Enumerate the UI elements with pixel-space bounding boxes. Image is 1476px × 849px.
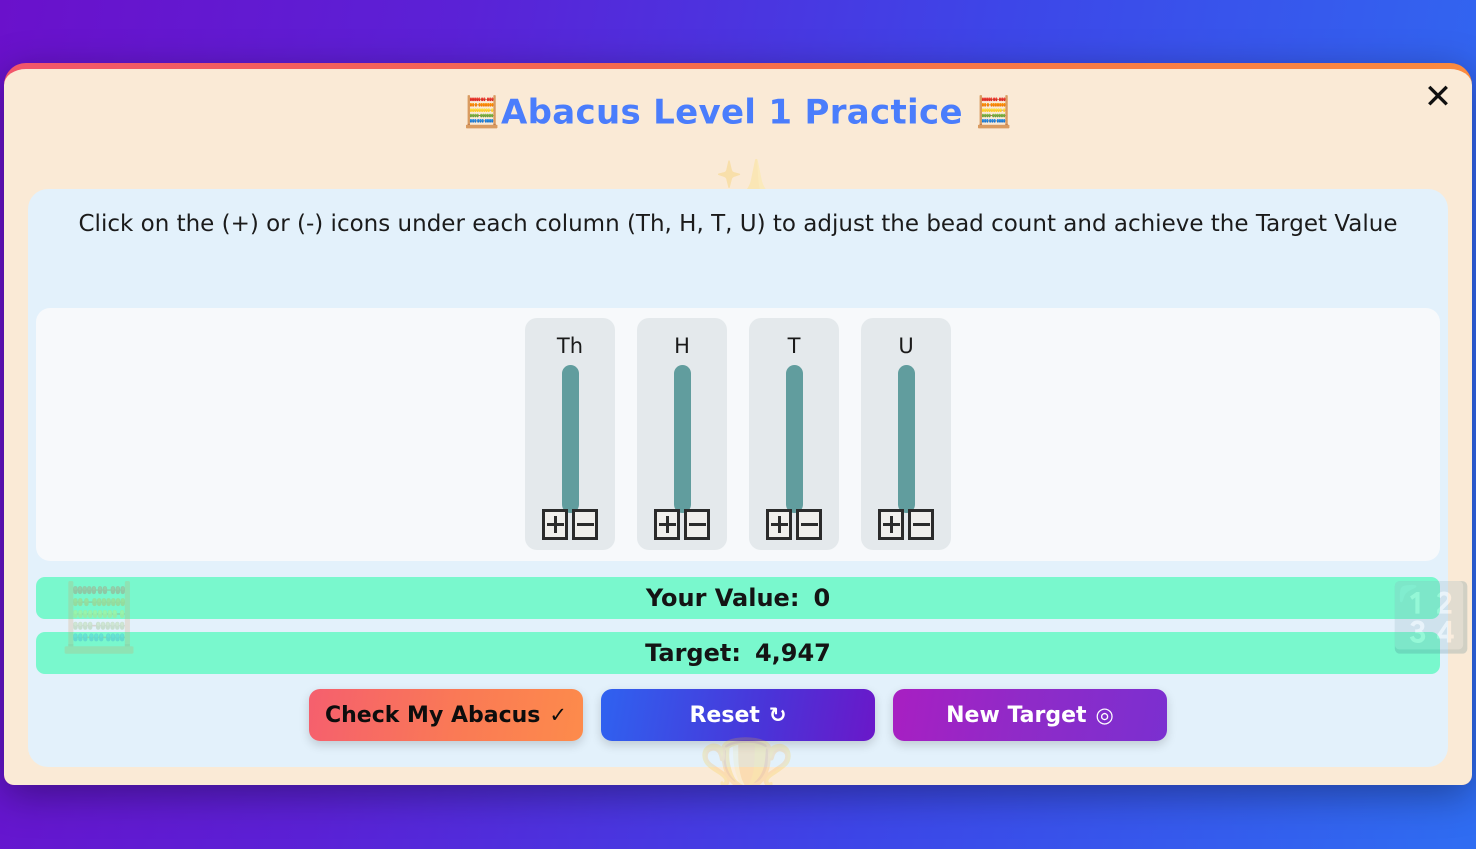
abacus-column-hundreds: H — [637, 318, 727, 550]
abacus-rod-thousands — [562, 365, 579, 513]
your-value-number: 0 — [813, 584, 830, 612]
check-my-abacus-button[interactable]: Check My Abacus ✓ — [309, 689, 583, 741]
reset-button-label: Reset — [689, 703, 759, 728]
refresh-icon: ↻ — [769, 703, 787, 727]
page-title: 🧮Abacus Level 1 Practice 🧮 — [4, 69, 1472, 133]
instruction-text: Click on the (+) or (-) icons under each… — [28, 189, 1448, 241]
column-label-tens: T — [788, 336, 801, 357]
minus-icon-units[interactable] — [908, 509, 934, 540]
abacus-column-units: U — [861, 318, 951, 550]
check-mark-icon: ✓ — [549, 703, 567, 727]
page-title-text: Abacus Level 1 Practice — [501, 93, 963, 133]
abacus-board: Th H T — [36, 308, 1440, 561]
abacus-column-tens: T — [749, 318, 839, 550]
reset-button[interactable]: Reset ↻ — [601, 689, 875, 741]
minus-icon-hundreds[interactable] — [684, 509, 710, 540]
your-value-display: Your Value: 0 — [36, 577, 1440, 619]
column-label-thousands: Th — [557, 336, 583, 357]
plus-icon-tens[interactable] — [766, 509, 792, 540]
close-icon[interactable]: ✕ — [1418, 77, 1458, 117]
target-number: 4,947 — [755, 639, 831, 667]
check-button-label: Check My Abacus — [325, 703, 540, 728]
new-target-button[interactable]: New Target ◎ — [893, 689, 1167, 741]
target-label: Target: — [645, 639, 741, 667]
minus-icon-thousands[interactable] — [572, 509, 598, 540]
plus-icon-hundreds[interactable] — [654, 509, 680, 540]
target-display: Target: 4,947 — [36, 632, 1440, 674]
abacus-rod-hundreds — [674, 365, 691, 513]
column-label-units: U — [898, 336, 913, 357]
target-icon: ◎ — [1096, 703, 1114, 727]
minus-icon-tens[interactable] — [796, 509, 822, 540]
practice-panel: Click on the (+) or (-) icons under each… — [28, 189, 1448, 767]
abacus-icon: 🧮 — [975, 95, 1013, 130]
column-label-hundreds: H — [674, 336, 690, 357]
abacus-practice-modal: ✕ ✨ 🧮Abacus Level 1 Practice 🧮 Click on … — [4, 63, 1472, 785]
column-controls-units — [861, 509, 951, 540]
column-controls-thousands — [525, 509, 615, 540]
column-controls-hundreds — [637, 509, 727, 540]
action-buttons-row: Check My Abacus ✓ Reset ↻ New Target ◎ — [28, 689, 1448, 741]
abacus-column-thousands: Th — [525, 318, 615, 550]
plus-icon-thousands[interactable] — [542, 509, 568, 540]
plus-icon-units[interactable] — [878, 509, 904, 540]
calculator-icon: 🧮 — [463, 95, 501, 130]
abacus-rod-units — [898, 365, 915, 513]
your-value-label: Your Value: — [646, 584, 800, 612]
abacus-rod-tens — [786, 365, 803, 513]
new-target-button-label: New Target — [946, 703, 1086, 728]
column-controls-tens — [749, 509, 839, 540]
